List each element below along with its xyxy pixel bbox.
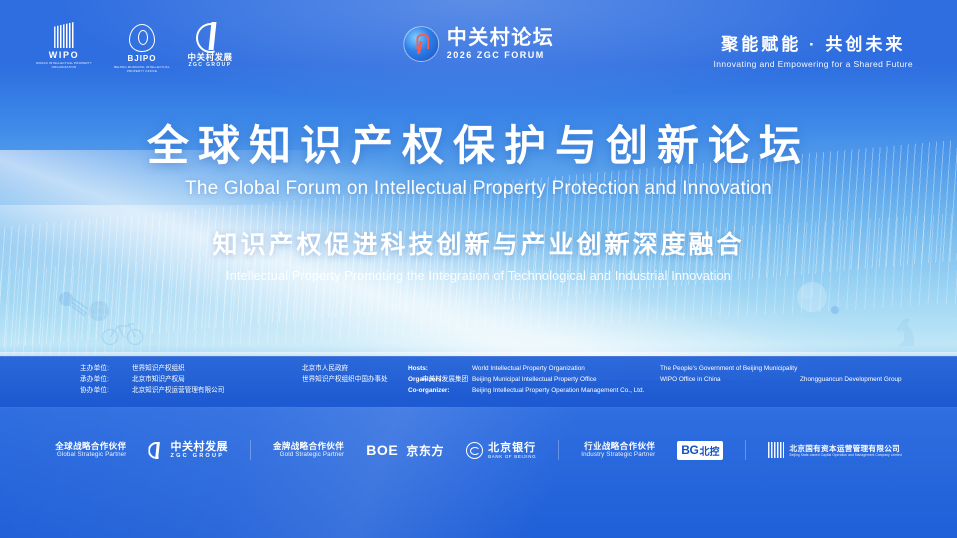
page-title-cn: 全球知识产权保护与创新论坛	[0, 120, 957, 172]
partner-logo-en: ZGC GROUP	[170, 453, 228, 459]
organizer-label: 承办单位:	[80, 374, 132, 385]
forum-emblem-icon	[403, 26, 439, 62]
partner-logo-cn: 中关村发展	[170, 441, 228, 453]
state-capital-mark-icon	[768, 442, 784, 458]
zgc-forum-logo: 中关村论坛 2026 ZGC FORUM	[403, 26, 555, 62]
partner-tier-en: Global Strategic Partner	[55, 451, 126, 459]
partner-tier-industry: 行业战略合作伙伴 Industry Strategic Partner	[581, 441, 655, 459]
partner-logo-bank-of-beijing: 北京银行 BANK OF BEIJING	[466, 442, 536, 459]
forum-name-en: 2026 ZGC FORUM	[447, 51, 555, 60]
zgc-name-cn: 中关村发展	[178, 52, 242, 62]
wipo-name: WIPO	[34, 50, 94, 60]
organizer-value: World Intellectual Property Organization	[472, 363, 660, 374]
wipo-subtitle: WORLD INTELLECTUAL PROPERTY ORGANIZATION	[34, 62, 94, 69]
organizer-row: Co-organizer: Beijing Intellectual Prope…	[408, 385, 940, 396]
partner-tier-en: Industry Strategic Partner	[581, 451, 655, 459]
organizer-value: 世界知识产权组织	[132, 363, 302, 374]
organizer-value: 北京知识产权运营管理有限公司	[132, 385, 302, 396]
organizer-value: 北京市人民政府	[302, 363, 422, 374]
page-title-en: The Global Forum on Intellectual Propert…	[0, 178, 957, 200]
chess-knight-icon	[890, 310, 920, 348]
organizer-label: 协办单位:	[80, 385, 132, 396]
page-subtitle-cn: 知识产权促进科技创新与产业创新深度融合	[0, 225, 957, 261]
partner-divider	[250, 440, 251, 460]
bicycle-icon	[100, 318, 146, 346]
partner-tier-cn: 金牌战略合作伙伴	[273, 441, 344, 452]
slogan-en: Innovating and Empowering for a Shared F…	[714, 59, 913, 69]
logo-zgc-group: 中关村发展 ZGC GROUP	[178, 22, 242, 68]
organizer-label: Co-organizer:	[408, 385, 472, 396]
partner-divider	[558, 440, 559, 460]
organizer-value: 世界知识产权组织中国办事处	[302, 374, 422, 385]
bank-of-beijing-mark-icon	[466, 442, 483, 459]
organizer-value: Beijing Intellectual Property Operation …	[472, 385, 660, 396]
partner-tier-en: Gold Strategic Partner	[273, 451, 344, 459]
badminton-icon	[86, 298, 112, 324]
top-logo-row: WIPO WORLD INTELLECTUAL PROPERTY ORGANIZ…	[0, 0, 957, 88]
small-dot-icon	[830, 305, 840, 315]
zgc-name-en: ZGC GROUP	[178, 62, 242, 68]
organizer-label: Hosts:	[408, 363, 472, 374]
partner-tier-global: 全球战略合作伙伴 Global Strategic Partner	[55, 441, 126, 459]
organizer-row: Hosts: World Intellectual Property Organ…	[408, 363, 940, 374]
bjipo-subtitle: BEIJING MUNICIPAL INTELLECTUAL PROPERTY …	[110, 66, 174, 73]
partner-logo-boe: BOE 京东方	[366, 442, 444, 459]
bjipo-mark-icon	[129, 24, 155, 52]
organizer-value: Zhongguancun Development Group	[800, 374, 940, 385]
partner-logo-beijing-state-capital: 北京国有资本运营管理有限公司 Beijing State-owned Capit…	[768, 442, 901, 458]
partner-tier-cn: 行业战略合作伙伴	[581, 441, 655, 452]
partner-logo-en: Beijing State-owned Capital Operation an…	[789, 453, 901, 457]
partner-logo-zgc-group: 中关村发展 ZGC GROUP	[148, 441, 228, 459]
zgc-mark-icon	[148, 442, 165, 459]
partner-bar: 全球战略合作伙伴 Global Strategic Partner 中关村发展 …	[0, 425, 957, 475]
partner-logo-cn: 北京国有资本运营管理有限公司	[789, 444, 901, 453]
organizer-value: WIPO Office in China	[660, 374, 800, 385]
partner-logo-cn: 北京银行	[488, 442, 536, 454]
slogan-cn: 聚能赋能 · 共创未来	[714, 30, 913, 55]
partner-logo-bg-beikong: BG 北控	[677, 441, 723, 460]
partner-tier-cn: 全球战略合作伙伴	[55, 441, 126, 452]
organizer-label: Organizers:	[408, 374, 472, 385]
organizer-list-en: Hosts: World Intellectual Property Organ…	[408, 363, 940, 396]
organizer-value: The People's Government of Beijing Munic…	[660, 363, 800, 374]
forum-name-cn: 中关村论坛	[447, 28, 555, 48]
shuttlecock-icon	[55, 288, 89, 318]
zgc-mark-icon	[195, 22, 225, 50]
organizer-value: 北京市知识产权局	[132, 374, 302, 385]
partner-logo-en: BOE	[366, 442, 398, 458]
bjipo-name: BJIPO	[110, 54, 174, 64]
wipo-mark-icon	[51, 22, 77, 48]
organizer-value: Beijing Municipal Intellectual Property …	[472, 374, 660, 385]
slogan: 聚能赋能 · 共创未来 Innovating and Empowering fo…	[714, 30, 913, 69]
page-subtitle-en: Intellectual Property Promoting the Inte…	[0, 269, 957, 283]
sphere-icon	[795, 280, 829, 314]
logo-bjipo: BJIPO BEIJING MUNICIPAL INTELLECTUAL PRO…	[110, 24, 174, 73]
organizer-row: Organizers: Beijing Municipal Intellectu…	[408, 374, 940, 385]
partner-logo-cn: 北控	[699, 443, 719, 458]
logo-wipo: WIPO WORLD INTELLECTUAL PROPERTY ORGANIZ…	[34, 22, 94, 69]
hero-title-block: 全球知识产权保护与创新论坛 The Global Forum on Intell…	[0, 120, 957, 283]
organizer-band: 主办单位: 世界知识产权组织 北京市人民政府 承办单位: 北京市知识产权局 世界…	[0, 356, 957, 407]
organizer-label: 主办单位:	[80, 363, 132, 374]
partner-logo-en: BANK OF BEIJING	[488, 454, 536, 459]
partner-tier-gold: 金牌战略合作伙伴 Gold Strategic Partner	[273, 441, 344, 459]
partner-divider	[745, 440, 746, 460]
partner-logo-en: BG	[681, 443, 698, 457]
forum-backdrop-banner: WIPO WORLD INTELLECTUAL PROPERTY ORGANIZ…	[0, 0, 957, 538]
partner-logo-cn: 京东方	[406, 442, 444, 459]
